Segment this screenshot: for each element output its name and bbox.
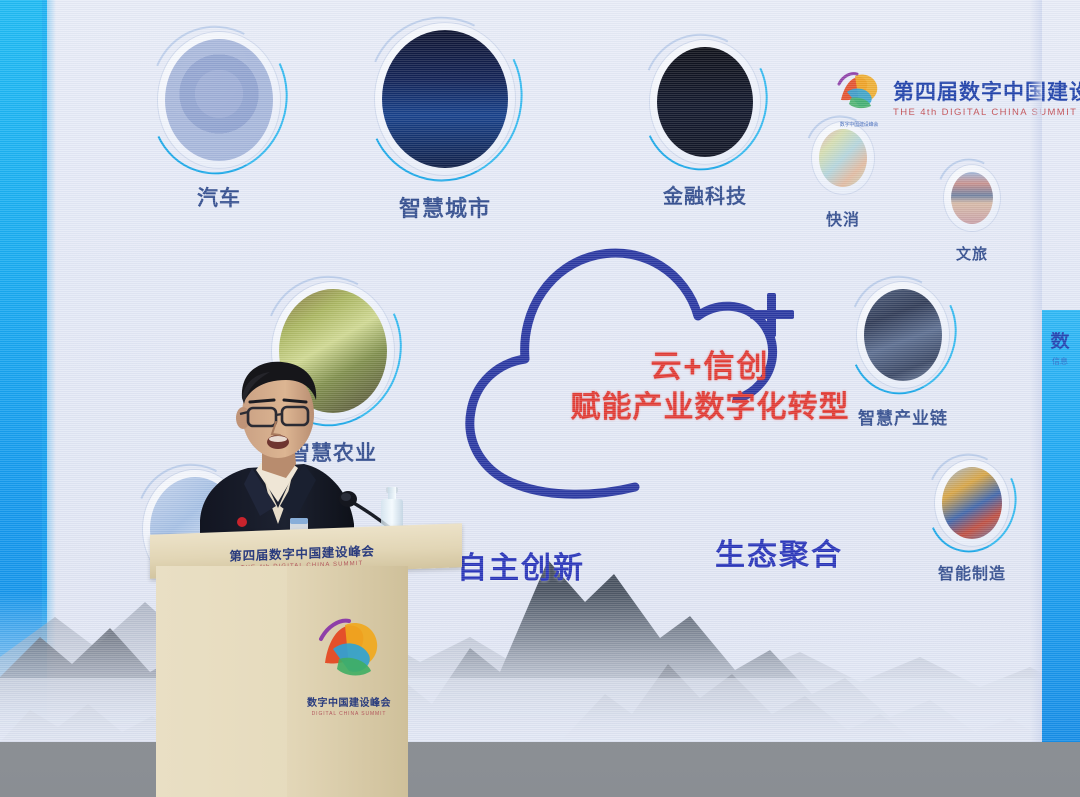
node-label-fintech: 金融科技	[663, 180, 747, 209]
smart-city-thumb	[382, 30, 508, 168]
summit-logo: 数字中国建设峰会 第四届数字中国建设峰会 THE 4th DIGITAL CHI…	[833, 68, 1058, 130]
node-label-fmcg: 快消	[826, 206, 860, 230]
industry-chain-thumb	[864, 289, 942, 381]
phrase-independent-innovation: 自主创新	[457, 543, 585, 587]
summit-title-cn: 第四届数字中国建设峰会	[893, 81, 1080, 105]
summit-brush-mark-icon: 数字中国建设峰会	[833, 70, 885, 128]
node-label-industry-chain: 智慧产业链	[858, 404, 948, 429]
culture-tourism-thumb	[951, 172, 993, 224]
headline-line-2: 赋能产业数字化转型	[560, 391, 860, 425]
node-automotive: 汽车	[158, 32, 280, 168]
fintech-thumb	[657, 47, 753, 157]
podium-logo-cn: 数字中国建设峰会	[307, 694, 391, 709]
node-label-culture-tourism: 文旅	[956, 243, 988, 264]
smart-manufacturing-ring	[935, 460, 1009, 546]
summit-logo-text: 第四届数字中国建设峰会 THE 4th DIGITAL CHINA SUMMIT	[893, 81, 1080, 118]
automotive-thumb	[165, 39, 273, 161]
fintech-ring	[650, 40, 760, 164]
phrase-ecosystem-aggregation: 生态聚合	[715, 530, 843, 574]
culture-tourism-ring	[944, 165, 1000, 231]
podium-logo-en: DIGITAL CHINA SUMMIT	[312, 711, 387, 717]
slide-headline: 云+信创 赋能产业数字化转型	[560, 350, 860, 424]
fmcg-thumb	[819, 129, 867, 187]
smart-manufacturing-thumb	[942, 467, 1002, 539]
headline-line-1: 云+信创	[560, 350, 860, 385]
wall-left-blue-band	[0, 0, 47, 742]
node-culture-tourism: 文旅	[944, 165, 1000, 231]
wall-left-band-gradient	[42, 0, 56, 742]
automotive-ring	[158, 32, 280, 168]
node-label-automotive: 汽车	[197, 182, 241, 212]
summit-mark-caption: 数字中国建设峰会	[833, 122, 885, 128]
industry-chain-ring	[857, 282, 949, 388]
fmcg-ring	[812, 122, 874, 194]
node-fintech: 金融科技	[650, 40, 760, 164]
wall-right-gap	[1030, 0, 1042, 742]
summit-title-en: THE 4th DIGITAL CHINA SUMMIT	[893, 107, 1080, 118]
wall-side-panel	[1042, 310, 1080, 742]
stage-scene: 云+信创 赋能产业数字化转型 自主创新 生态聚合 汽车 智慧城市	[0, 0, 1080, 797]
side-panel-title: 数	[1042, 332, 1078, 352]
side-panel-subtitle: 信息	[1042, 356, 1078, 367]
smart-city-ring	[375, 23, 515, 175]
node-label-smart-manufacturing: 智能制造	[938, 560, 1006, 584]
node-industry-chain: 智慧产业链	[857, 282, 949, 388]
node-smart-city: 智慧城市	[375, 23, 515, 175]
node-label-smart-city: 智慧城市	[399, 191, 491, 223]
podium-brush-mark-icon	[313, 615, 385, 691]
node-smart-manufacturing: 智能制造	[935, 460, 1009, 546]
brush-stroke-icon	[833, 70, 885, 110]
podium-logo: 数字中国建设峰会 DIGITAL CHINA SUMMIT	[300, 615, 398, 735]
node-fmcg: 快消	[812, 122, 874, 194]
